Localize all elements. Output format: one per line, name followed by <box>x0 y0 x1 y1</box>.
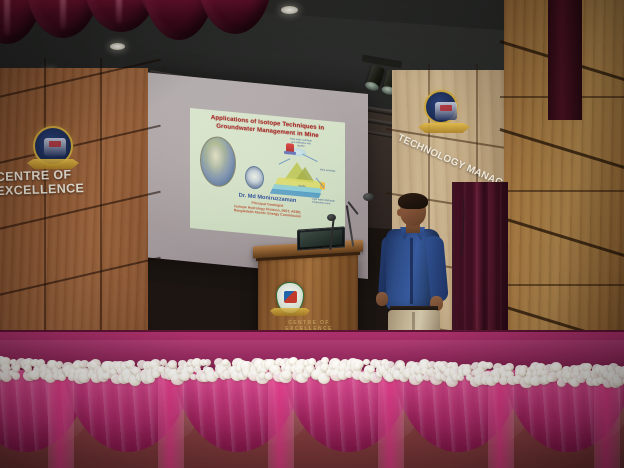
drape-vertical-column <box>378 370 404 468</box>
drape-vertical-column <box>158 370 184 468</box>
diagram-label: Mine workings <box>320 168 342 173</box>
left-wall-panel <box>0 68 148 358</box>
ceiling-downlight-icon <box>281 6 298 14</box>
groundwater-hydrology-diagram: Rain water recharge and infiltration int… <box>268 137 338 204</box>
garland-flower-icon <box>519 369 526 376</box>
water-cycle-globe-graphic <box>200 135 236 188</box>
flow-arrow <box>302 154 317 162</box>
curtain-highlight <box>4 0 10 36</box>
curtain-highlight <box>60 0 66 30</box>
panel-groove-vertical <box>44 58 46 358</box>
rig-base <box>284 151 296 155</box>
drape-vertical-column <box>268 370 294 468</box>
presenter-ear <box>397 209 402 216</box>
garland-flower-icon <box>13 365 21 372</box>
emblem-inner-crest <box>44 138 66 156</box>
panel-groove-vertical <box>100 58 102 358</box>
drape-vertical-column <box>48 370 74 468</box>
upper-right-curtain <box>548 0 582 120</box>
garland-flower-icon <box>180 372 190 381</box>
left-wall-sign-text: CENTRE OF EXCELLENCE <box>0 166 116 198</box>
garland-flower-icon <box>204 359 211 366</box>
emblem-ribbon <box>418 123 470 133</box>
emblem-disc <box>424 90 458 124</box>
panel-groove <box>500 284 624 286</box>
auditorium-presentation-scene: Applications of Isotope Techniques in Gr… <box>0 0 624 468</box>
garland-flower-icon <box>457 374 464 381</box>
garland-flower-icon <box>282 370 292 379</box>
laptop-screen <box>300 230 342 248</box>
panel-groove <box>500 190 624 192</box>
garland-flower-icon <box>12 372 20 379</box>
curtain-swag <box>198 0 272 34</box>
presenter-left-hand <box>376 292 388 306</box>
presentation-slide: Applications of Isotope Techniques in Gr… <box>190 108 345 243</box>
garland-flower-icon <box>168 360 177 368</box>
flower-garland <box>0 352 624 382</box>
wood-grain-texture <box>0 68 148 358</box>
curtain-highlight <box>116 0 122 24</box>
emblem-inner-crest <box>435 102 457 120</box>
garland-flower-icon <box>505 363 514 371</box>
ceiling-valance-curtain-right <box>160 0 280 34</box>
institution-seal-logo <box>245 165 264 190</box>
garland-flower-icon <box>619 368 624 378</box>
garland-flower-icon <box>30 370 40 380</box>
podium-emblem-ribbon <box>270 308 310 316</box>
shirt-placket <box>410 238 413 304</box>
wall-crest-emblem-icon <box>424 90 458 124</box>
presenter-hair <box>398 193 428 209</box>
microphone-icon <box>327 214 336 221</box>
laptop[interactable] <box>297 226 345 250</box>
wall-crest-emblem-icon <box>33 126 73 166</box>
